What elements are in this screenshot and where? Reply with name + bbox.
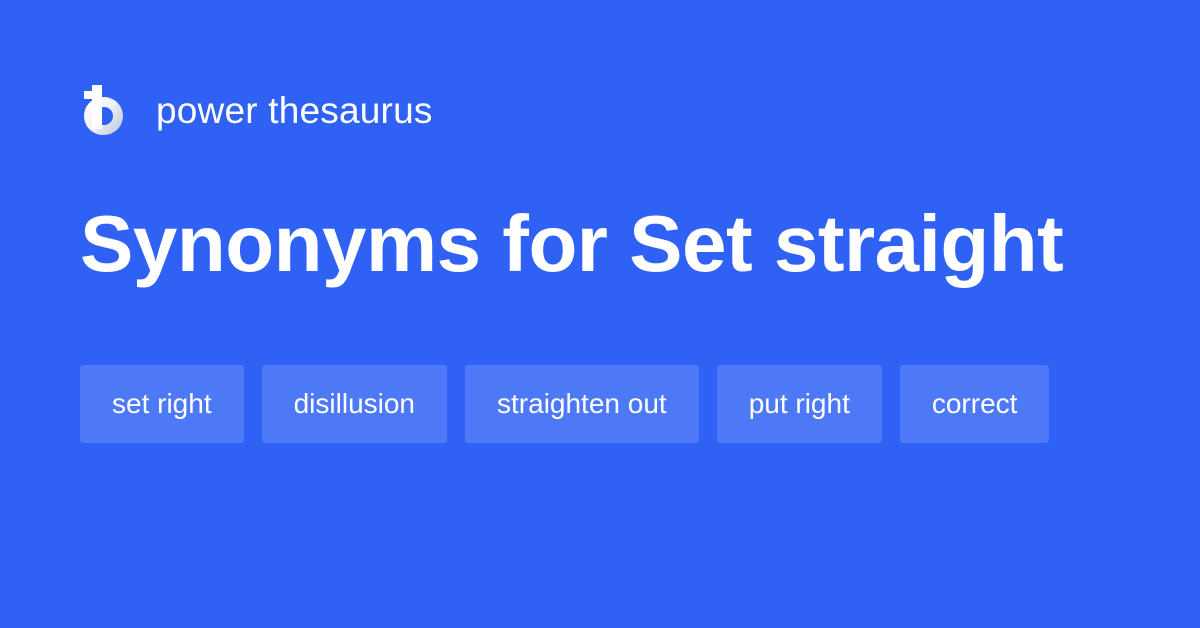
page-title: Synonyms for Set straight — [80, 196, 1063, 292]
synonym-chip[interactable]: correct — [900, 365, 1050, 443]
synonym-chip[interactable]: set right — [80, 365, 244, 443]
synonym-chip[interactable]: disillusion — [262, 365, 447, 443]
synonym-chip[interactable]: straighten out — [465, 365, 699, 443]
share-card: power thesaurus Synonyms for Set straigh… — [0, 0, 1200, 628]
brand-header[interactable]: power thesaurus — [80, 84, 433, 136]
synonym-chip[interactable]: put right — [717, 365, 882, 443]
synonym-chip-list: set right disillusion straighten out put… — [80, 365, 1120, 443]
brand-name: power thesaurus — [156, 92, 433, 129]
power-thesaurus-b-logo-icon — [80, 85, 128, 135]
